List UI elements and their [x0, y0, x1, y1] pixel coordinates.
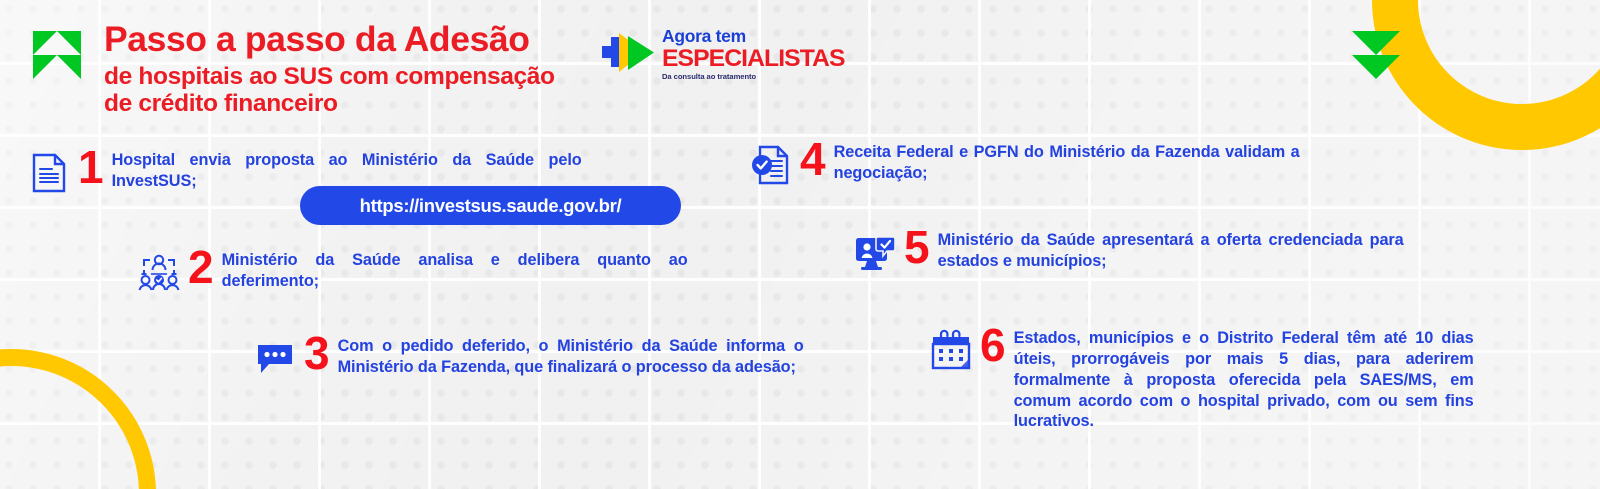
brand-tagline: Da consulta ao tratamento — [662, 73, 839, 81]
brand-top-text: Agora tem — [662, 28, 839, 46]
step-text-2: Ministério da Saúde analisa e delibera q… — [222, 250, 688, 292]
step-text-4: Receita Federal e PGFN do Ministério da … — [834, 142, 1300, 184]
title-line-2: de hospitais ao SUS com compensação — [104, 63, 604, 90]
investsus-url-button[interactable]: https://investsus.saude.gov.br/ — [300, 186, 681, 225]
step-text-6: Estados, municípios e o Distrito Federal… — [1014, 328, 1474, 432]
document-check-icon — [748, 142, 794, 188]
step-item-6: 6 Estados, municípios e o Distrito Feder… — [928, 328, 1474, 432]
page-title: Passo a passo da Adesão de hospitais ao … — [104, 22, 604, 117]
title-line-1: Passo a passo da Adesão — [104, 22, 604, 58]
step-number-3: 3 — [304, 334, 329, 373]
step-item-3: 3 Com o pedido deferido, o Ministério da… — [252, 336, 804, 382]
step-item-4: 4 Receita Federal e PGFN do Ministério d… — [748, 142, 1300, 188]
title-line-3: de crédito financeiro — [104, 90, 604, 117]
document-icon — [26, 150, 72, 196]
step-number-2: 2 — [188, 248, 213, 287]
brand-logo: Agora tem ESPECIALISTAS Da consulta ao t… — [592, 27, 839, 80]
step-item-5: 5 Ministério da Saúde apresentará a ofer… — [852, 230, 1404, 276]
people-group-icon — [136, 250, 182, 296]
step-text-5: Ministério da Saúde apresentará a oferta… — [938, 230, 1404, 272]
brand-main-text: ESPECIALISTAS — [662, 46, 845, 71]
step-text-3: Com o pedido deferido, o Ministério da S… — [338, 336, 804, 378]
step-number-5: 5 — [904, 228, 929, 267]
infographic-canvas: Passo a passo da Adesão de hospitais ao … — [0, 0, 1600, 489]
cross-arrow-icon — [592, 28, 656, 80]
step-number-6: 6 — [980, 326, 1005, 365]
gov-pinwheel-logo-left — [33, 31, 81, 79]
speech-bubble-icon — [252, 336, 298, 382]
step-item-2: 2 Ministério da Saúde analisa e delibera… — [136, 250, 688, 296]
monitor-check-icon — [852, 230, 898, 276]
step-number-1: 1 — [78, 148, 103, 187]
gov-pinwheel-logo-right — [1352, 31, 1400, 79]
step-number-4: 4 — [800, 140, 825, 179]
calendar-icon — [928, 328, 974, 374]
